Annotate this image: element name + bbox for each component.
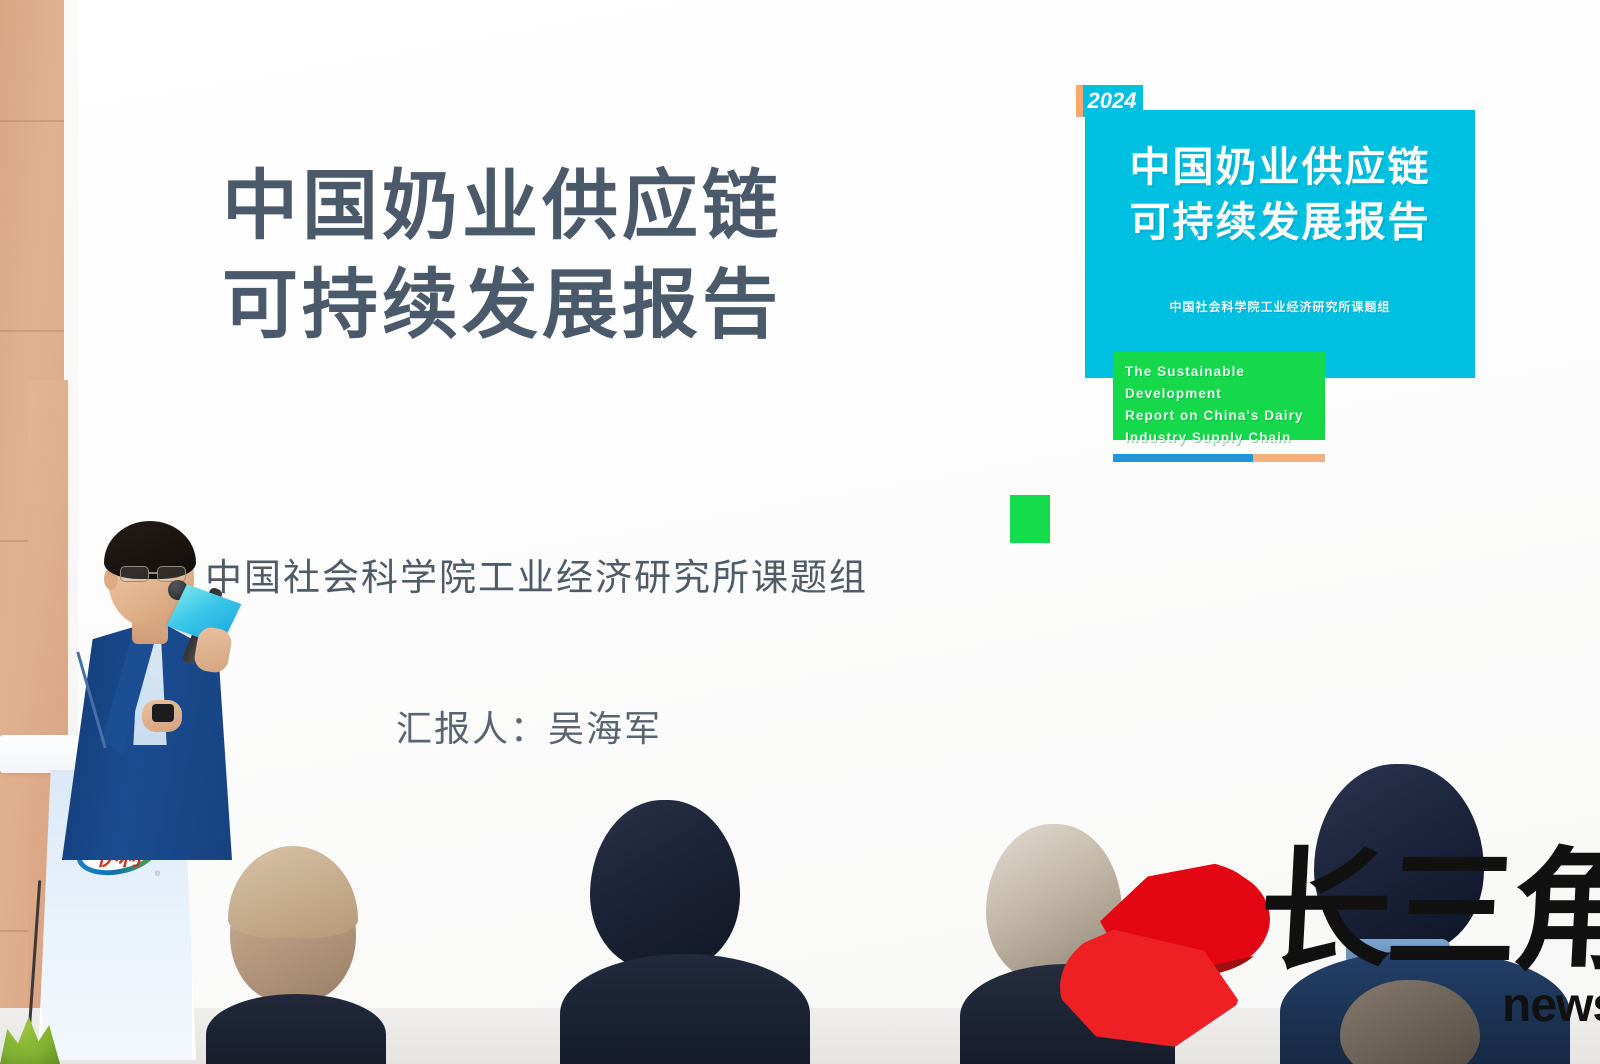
slide-title-line-2: 可持续发展报告 bbox=[222, 257, 922, 356]
cover-title-line-2: 可持续发展报告 bbox=[1085, 195, 1475, 250]
cover-green-panel: The Sustainable Development Report on Ch… bbox=[1113, 352, 1325, 440]
audience-1-shoulders bbox=[206, 994, 386, 1064]
presentation-clicker bbox=[152, 704, 174, 722]
cover-subtitle: 中国社会科学院工业经济研究所课题组 bbox=[1085, 298, 1475, 315]
cover-year-tab: 2024 bbox=[1081, 85, 1143, 117]
audience-member-5 bbox=[1330, 974, 1500, 1064]
slide-green-accent-square bbox=[1010, 495, 1050, 543]
cover-title-line-1: 中国奶业供应链 bbox=[1085, 140, 1475, 195]
cover-bar-orange-segment bbox=[1253, 454, 1325, 462]
audience-member-1 bbox=[206, 844, 386, 1064]
photo-canvas: 中国奶业供应链 可持续发展报告 中国社会科学院工业经济研究所课题组 汇报人：吴海… bbox=[0, 0, 1600, 1064]
cover-year-label: 2024 bbox=[1088, 88, 1137, 114]
report-cover-graphic: 2024 中国奶业供应链 可持续发展报告 中国社会科学院工业经济研究所课题组 T… bbox=[1085, 110, 1475, 378]
audience-3-shoulders bbox=[960, 964, 1175, 1064]
slide-title-line-1: 中国奶业供应链 bbox=[222, 158, 922, 257]
audience-member-2 bbox=[560, 794, 800, 1064]
slide-organization: 中国社会科学院工业经济研究所课题组 bbox=[205, 547, 868, 601]
audience-1-hair bbox=[228, 846, 358, 938]
cover-bar-blue-segment bbox=[1113, 454, 1253, 462]
audience-3-head bbox=[986, 824, 1122, 982]
cover-orange-accent bbox=[1076, 85, 1083, 117]
audience-5-head bbox=[1340, 980, 1480, 1064]
cover-chinese-title: 中国奶业供应链 可持续发展报告 bbox=[1085, 140, 1475, 251]
glasses-left-lens bbox=[120, 566, 149, 582]
slide-presenter: 汇报人：吴海军 bbox=[396, 700, 662, 752]
slide-title: 中国奶业供应链 可持续发展报告 bbox=[222, 158, 922, 356]
audience-2-shoulders bbox=[560, 954, 810, 1064]
yili-registered-mark: ® bbox=[155, 871, 160, 878]
glasses-right-lens bbox=[157, 566, 186, 582]
audience-member-3 bbox=[960, 814, 1170, 1064]
cover-english-line-2: Report on China's Dairy bbox=[1125, 405, 1313, 427]
cover-color-bar bbox=[1113, 454, 1325, 462]
audience-2-head bbox=[590, 800, 740, 970]
cover-english-line-3: Industry Supply Chain bbox=[1125, 427, 1313, 449]
cover-cyan-panel: 中国奶业供应链 可持续发展报告 中国社会科学院工业经济研究所课题组 bbox=[1085, 110, 1475, 378]
cover-english-line-1: The Sustainable Development bbox=[1125, 361, 1313, 405]
audience-4-head bbox=[1314, 764, 1484, 954]
